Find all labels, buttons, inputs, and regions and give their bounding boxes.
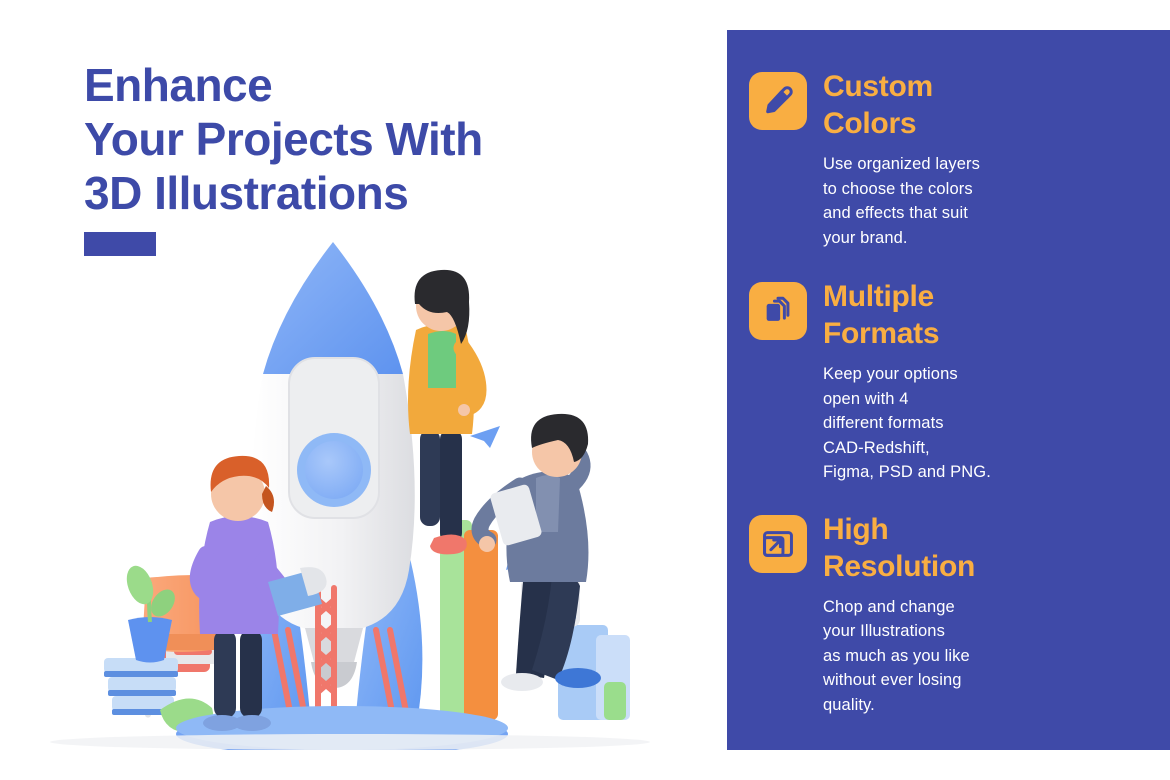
feature-description-line: Use organized layers [823,152,1023,177]
feature-title-line: Custom [823,68,933,105]
eyedropper-icon [749,72,807,130]
feature-description: Use organized layers to choose the color… [823,152,1023,250]
feature-description-line: Figma, PSD and PNG. [823,460,1023,485]
expand-arrow-icon [749,515,807,573]
feature-item-high-resolution[interactable]: High Resolution Chop and change your Ill… [823,511,1130,718]
feature-description-line: Keep your options [823,362,1023,387]
feature-description-line: as much as you like [823,644,1023,669]
hero-illustration [0,230,727,750]
page-title: Enhance Your Projects With 3D Illustrati… [84,58,684,220]
feature-description: Chop and change your Illustrations as mu… [823,595,1023,718]
feature-description-line: to choose the colors [823,177,1023,202]
feature-title-line: High [823,511,975,548]
feature-description-line: quality. [823,693,1023,718]
feature-description-line: CAD-Redshift, [823,436,1023,461]
feature-description-line: different formats [823,411,1023,436]
feature-title-line: Formats [823,315,939,352]
feature-description-line: without ever losing [823,668,1023,693]
feature-title: Custom Colors [823,68,933,142]
woman-on-rocket [408,270,478,554]
feature-description-line: your brand. [823,226,1023,251]
rocket-nose-cone [263,242,403,374]
feature-title: High Resolution [823,511,975,585]
headline-line-2: Your Projects With [84,112,684,166]
headline-line-3: 3D Illustrations [84,166,684,220]
feature-description-line: open with 4 [823,387,1023,412]
feature-title-line: Multiple [823,278,939,315]
feature-description-line: your Illustrations [823,619,1023,644]
feature-description: Keep your options open with 4 different … [823,362,1023,485]
left-content-area: Enhance Your Projects With 3D Illustrati… [0,0,727,780]
feature-description-line: Chop and change [823,595,1023,620]
copy-documents-icon [749,282,807,340]
feature-item-custom-colors[interactable]: Custom Colors Use organized layers to ch… [823,68,1130,250]
feature-title-line: Resolution [823,548,975,585]
feature-title: Multiple Formats [823,278,939,352]
feature-description-line: and effects that suit [823,201,1023,226]
feature-title-line: Colors [823,105,933,142]
features-panel: Custom Colors Use organized layers to ch… [727,30,1170,750]
headline-line-1: Enhance [84,58,684,112]
feature-item-multiple-formats[interactable]: Multiple Formats Keep your options open … [823,278,1130,485]
